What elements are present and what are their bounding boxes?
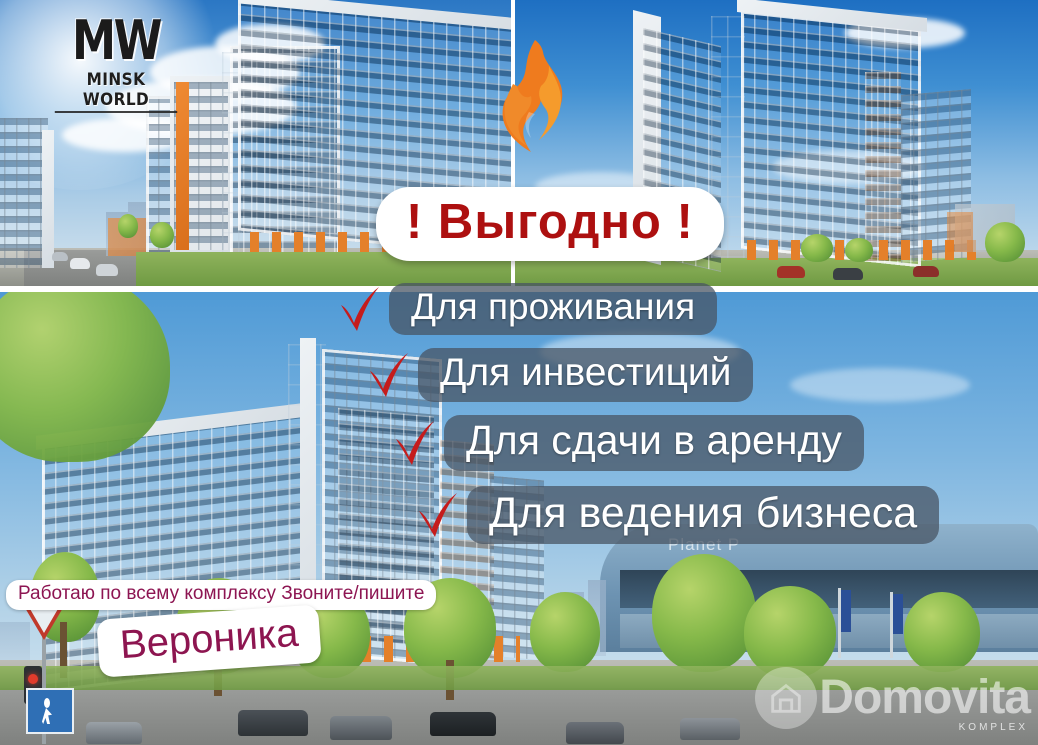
headline-badge: ! Выгодно !	[376, 187, 724, 261]
car	[330, 716, 392, 740]
car	[52, 252, 68, 261]
pedestrian-crossing-sign	[26, 688, 74, 734]
headline-text: ! Выгодно !	[406, 193, 694, 251]
agent-name-text: Вероника	[119, 611, 300, 667]
car	[566, 722, 624, 744]
benefit-row-2: Для инвестиций	[366, 348, 753, 402]
benefit-label-1: Для проживания	[411, 286, 695, 327]
watermark-text: Domovita	[819, 673, 1030, 723]
check-icon	[415, 489, 461, 541]
check-icon	[337, 283, 383, 335]
car	[238, 710, 308, 736]
tree	[985, 222, 1025, 262]
check-icon	[366, 349, 412, 401]
domovita-watermark: Domovita	[755, 667, 1030, 729]
benefit-label-4: Для ведения бизнеса	[489, 489, 917, 537]
car	[833, 268, 863, 280]
benefit-pill-2: Для инвестиций	[418, 348, 753, 402]
car	[430, 712, 496, 736]
house-icon	[755, 667, 817, 729]
tree	[845, 238, 873, 262]
pedestrian-icon-head	[44, 698, 50, 708]
flame-icon	[483, 38, 579, 158]
car	[70, 258, 90, 269]
building-left-slab	[0, 118, 48, 268]
contact-line-badge: Работаю по всему комплексу Звоните/пишит…	[6, 580, 436, 610]
advertisement-canvas: Planet P	[0, 0, 1038, 745]
benefit-pill-4: Для ведения бизнеса	[467, 486, 939, 544]
building-left-edge	[42, 130, 54, 268]
benefit-row-1: Для проживания	[337, 283, 717, 335]
brand-monogram: MW	[60, 12, 172, 70]
brand-logo: MW MINSK WORLD	[48, 12, 184, 108]
tree	[744, 586, 836, 678]
check-icon	[392, 417, 438, 469]
distant-building	[947, 212, 973, 252]
car	[96, 264, 118, 276]
car	[680, 718, 740, 740]
tree	[118, 214, 138, 238]
benefit-label-2: Для инвестиций	[440, 351, 731, 394]
benefit-label-3: Для сдачи в аренду	[466, 417, 842, 463]
benefit-row-3: Для сдачи в аренду	[392, 415, 864, 471]
tree	[150, 222, 174, 248]
flag	[893, 594, 903, 634]
tree	[801, 234, 833, 262]
brand-wordmark: MINSK WORLD	[55, 70, 177, 113]
contact-line-text: Работаю по всему комплексу Звоните/пишит…	[18, 583, 424, 604]
flag	[841, 590, 851, 632]
tree	[904, 592, 980, 672]
car	[86, 722, 142, 744]
tree	[530, 592, 600, 672]
traffic-light-red	[28, 674, 38, 684]
benefit-pill-3: Для сдачи в аренду	[444, 415, 864, 471]
car	[777, 266, 805, 278]
car	[913, 266, 939, 277]
cloud	[790, 368, 970, 402]
benefit-pill-1: Для проживания	[389, 283, 717, 334]
facade-orange-stripe	[865, 72, 901, 262]
benefit-row-4: Для ведения бизнеса	[415, 486, 939, 544]
tree	[652, 554, 756, 672]
pedestrian-icon-body	[42, 708, 52, 724]
